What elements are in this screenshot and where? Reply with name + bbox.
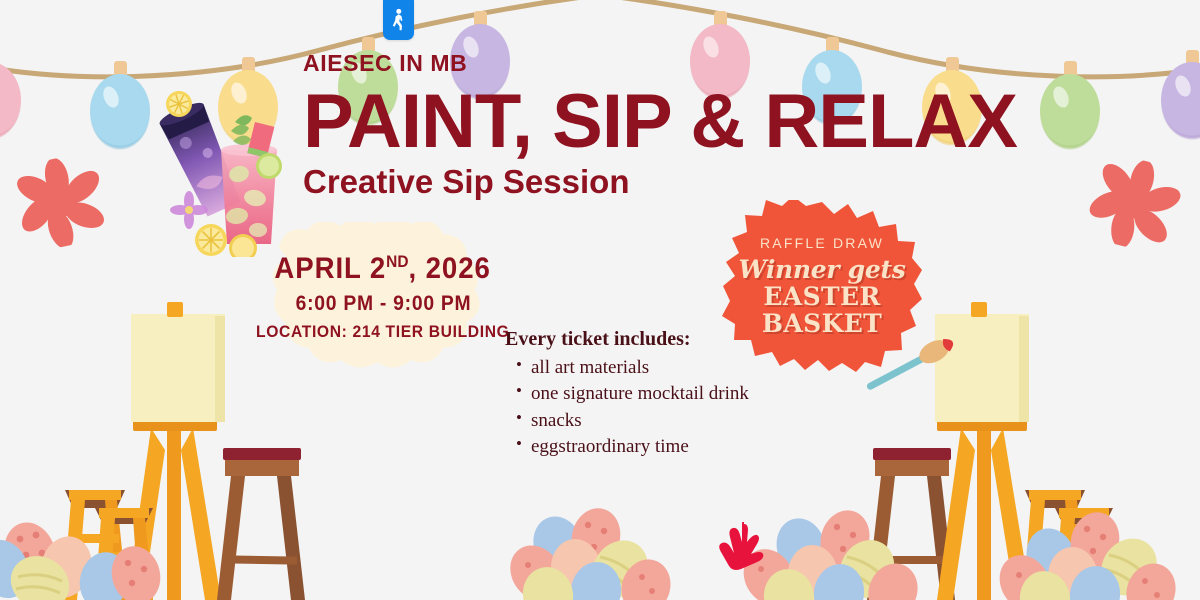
event-date-suffix: , 2026 [409,252,491,285]
raffle-line-1: Winner gets [739,257,906,282]
easter-egg-cluster [500,495,715,600]
page-title: PAINT, SIP & RELAX [303,87,1063,157]
walking-person-icon [390,8,407,32]
event-time: 6:00 PM - 9:00 PM [295,293,471,314]
easter-egg-cluster [735,495,950,600]
event-date-prefix: APRIL 2 [275,252,387,285]
raffle-kicker: RAFFLE DRAW [760,236,884,250]
coral-flower-right-icon [1083,151,1190,258]
event-date-ordinal: ND [387,252,409,271]
red-arrow-icon [719,522,765,572]
easter-egg-cluster [995,495,1200,600]
headline-block: AIESEC IN MB PAINT, SIP & RELAX Creative… [303,52,1063,198]
list-item: eggstraordinary time [531,434,770,459]
page-subtitle: Creative Sip Session [303,165,1063,198]
coral-flower-left-icon [10,150,114,254]
list-item: snacks [531,408,770,433]
raffle-line-2: EASTER [763,284,880,309]
walking-person-badge[interactable] [383,0,414,40]
event-date: APRIL 2ND, 2026 [275,254,491,284]
easter-egg-cluster [0,495,258,600]
organization-name: AIESEC IN MB [303,52,1063,75]
list-item: one signature mocktail drink [531,381,770,406]
event-poster: AIESEC IN MB PAINT, SIP & RELAX Creative… [0,0,1200,600]
